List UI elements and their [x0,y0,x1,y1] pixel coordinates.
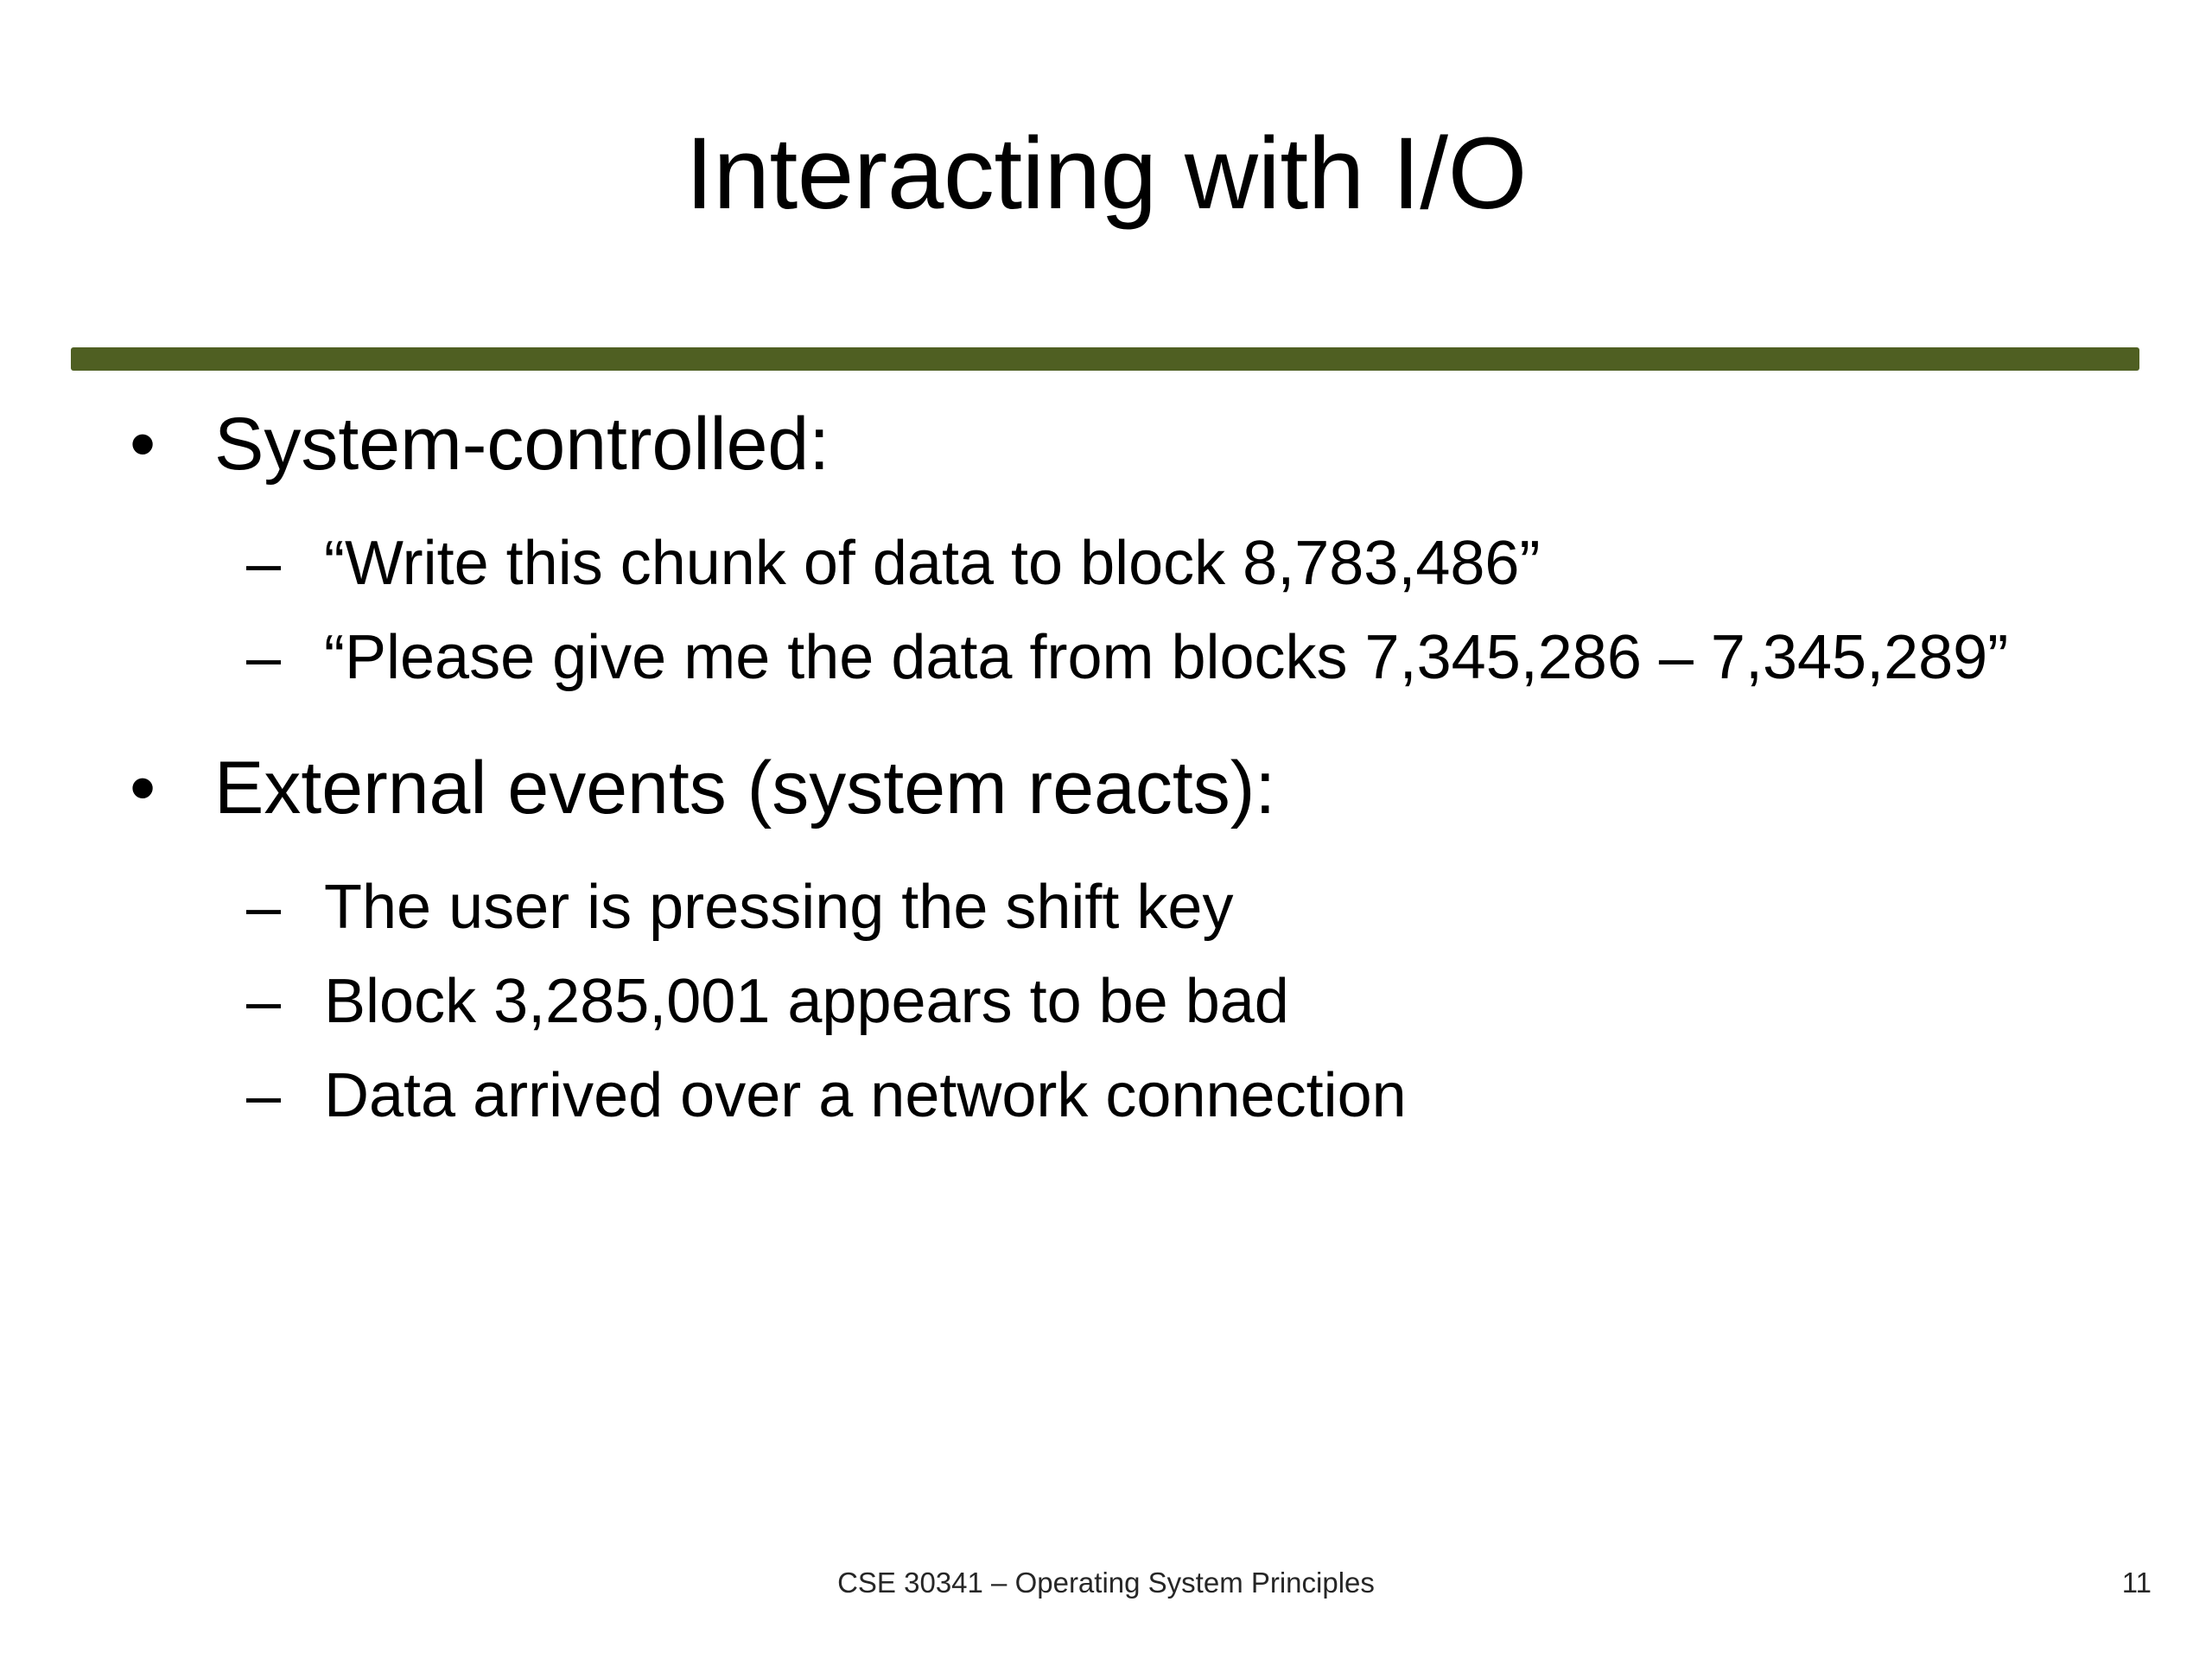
page-number: 11 [2100,1566,2152,1600]
title-underline-bar [71,347,2139,371]
bullet-level2-label: Data arrived over a network connection [324,1057,2108,1135]
bullet-dash-icon: – [246,868,307,947]
bullet-level2-read-blocks: – “Please give me the data from blocks 7… [0,619,2212,697]
slide-body: • System-controlled: – “Write this chunk… [0,399,2212,1150]
spacer [0,495,2212,524]
bullet-level2-shift-key: – The user is pressing the shift key [0,868,2212,947]
bullet-level1-label: System-controlled: [214,403,829,486]
bullet-dash-icon: – [246,619,307,697]
bullet-level2-label: Block 3,285,001 appears to be bad [324,963,2108,1041]
bullet-level1-system-controlled: • System-controlled: [0,399,2212,490]
bullet-level1-external-events: • External events (system reacts): [0,743,2212,834]
bullet-level2-label: The user is pressing the shift key [324,868,2108,947]
footer-course-label: CSE 30341 – Operating System Principles [0,1566,2212,1600]
bullet-level2-write-block: – “Write this chunk of data to block 8,7… [0,524,2212,603]
bullet-dash-icon: – [246,963,307,1041]
slide-canvas: Interacting with I/O • System-controlled… [0,0,2212,1659]
page-title: Interacting with I/O [0,121,2212,228]
bullet-level2-label: “Please give me the data from blocks 7,3… [324,619,2108,697]
bullet-level2-bad-block: – Block 3,285,001 appears to be bad [0,963,2212,1041]
spacer [0,712,2212,743]
bullet-dot-icon: • [130,399,181,490]
bullet-level2-label: “Write this chunk of data to block 8,783… [324,524,2108,603]
bullet-level2-network-data: – Data arrived over a network connection [0,1057,2212,1135]
bullet-dash-icon: – [246,1057,307,1135]
bullet-dot-icon: • [130,743,181,834]
bullet-level1-label: External events (system reacts): [214,747,1275,829]
bullet-dash-icon: – [246,524,307,603]
spacer [0,839,2212,868]
